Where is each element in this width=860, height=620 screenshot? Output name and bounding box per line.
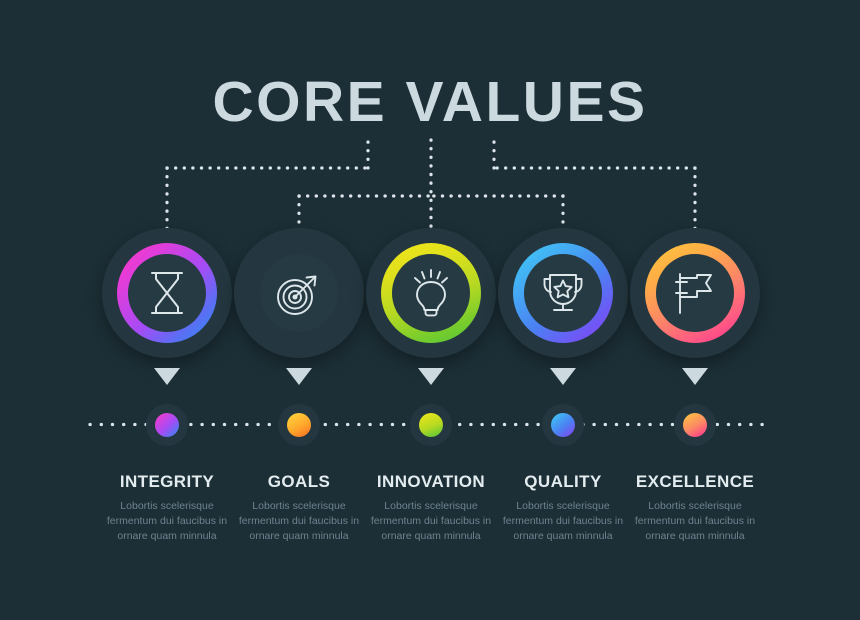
flag-icon bbox=[671, 269, 719, 317]
icon-well-quality bbox=[524, 254, 602, 332]
hourglass-icon bbox=[146, 269, 188, 317]
value-node-innovation[interactable] bbox=[366, 228, 496, 358]
bullet-plate-innovation[interactable] bbox=[410, 404, 452, 446]
value-node-goals[interactable] bbox=[234, 228, 364, 358]
icon-well-innovation bbox=[392, 254, 470, 332]
arrow-quality bbox=[550, 368, 576, 385]
caption-heading: EXCELLENCE bbox=[610, 472, 780, 492]
bullet-quality bbox=[551, 413, 575, 437]
trophy-icon bbox=[539, 269, 587, 317]
bullet-plate-quality[interactable] bbox=[542, 404, 584, 446]
value-node-quality[interactable] bbox=[498, 228, 628, 358]
icon-well-integrity bbox=[128, 254, 206, 332]
gradient-ring-goals bbox=[249, 243, 349, 343]
gradient-ring-innovation bbox=[381, 243, 481, 343]
gradient-ring-excellence bbox=[645, 243, 745, 343]
value-node-integrity[interactable] bbox=[102, 228, 232, 358]
lightbulb-icon bbox=[408, 268, 454, 318]
icon-well-excellence bbox=[656, 254, 734, 332]
target-icon bbox=[274, 269, 324, 317]
bullet-innovation bbox=[419, 413, 443, 437]
icon-well-goals bbox=[260, 254, 338, 332]
infographic-canvas: CORE VALUES bbox=[0, 0, 860, 620]
value-node-excellence[interactable] bbox=[630, 228, 760, 358]
bullet-excellence bbox=[683, 413, 707, 437]
arrow-goals bbox=[286, 368, 312, 385]
bullet-plate-goals[interactable] bbox=[278, 404, 320, 446]
page-title: CORE VALUES bbox=[0, 74, 860, 131]
arrow-innovation bbox=[418, 368, 444, 385]
gradient-ring-integrity bbox=[117, 243, 217, 343]
bullet-integrity bbox=[155, 413, 179, 437]
bullet-goals bbox=[287, 413, 311, 437]
arrow-excellence bbox=[682, 368, 708, 385]
bullet-plate-integrity[interactable] bbox=[146, 404, 188, 446]
bullet-plate-excellence[interactable] bbox=[674, 404, 716, 446]
arrow-integrity bbox=[154, 368, 180, 385]
caption-body: Lobortis scelerisque fermentum dui fauci… bbox=[610, 499, 780, 545]
gradient-ring-quality bbox=[513, 243, 613, 343]
caption-excellence: EXCELLENCE Lobortis scelerisque fermentu… bbox=[610, 472, 780, 545]
